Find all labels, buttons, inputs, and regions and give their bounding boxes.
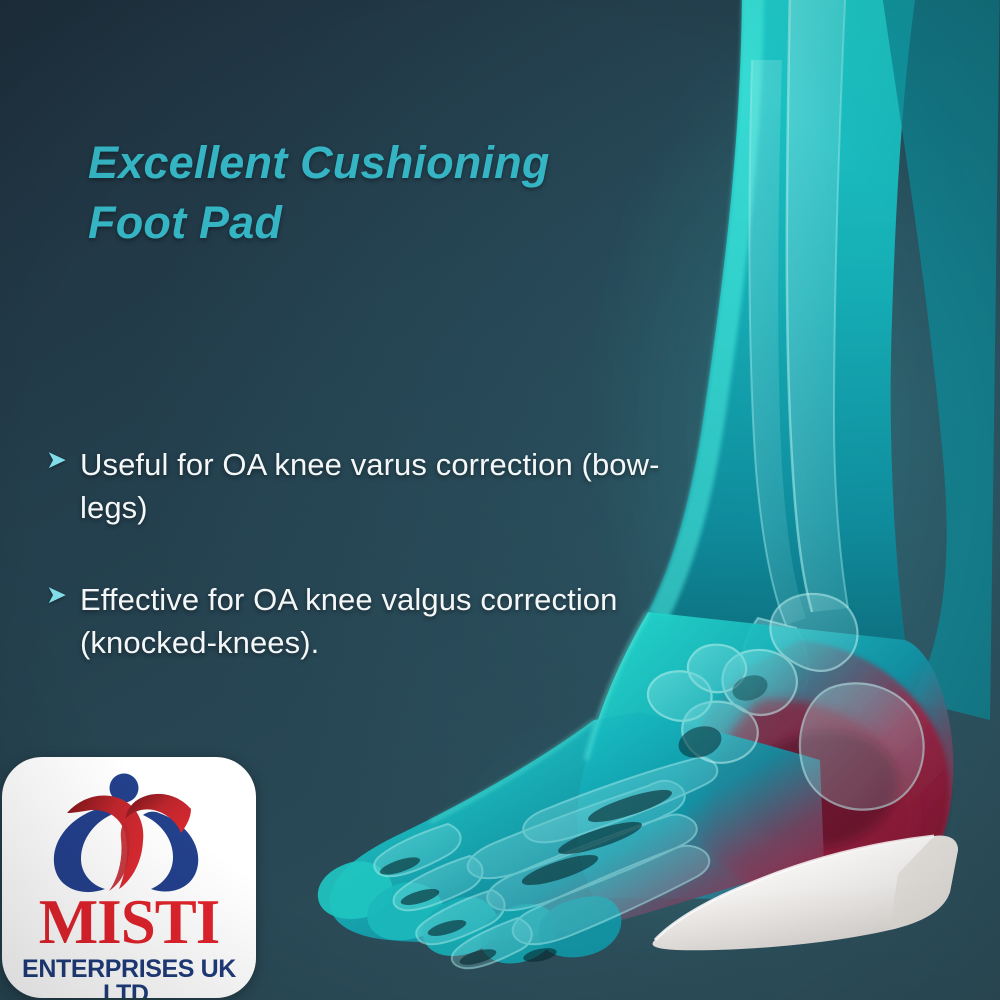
promo-graphic: Excellent Cushioning Foot Pad ➤ Useful f… [0,0,1000,1000]
logo-blue-crescent-left [54,808,115,892]
logo-wordmark: MISTI [2,891,256,954]
logo-blue-crescent-right [143,812,198,892]
list-item-label: Effective for OA knee valgus correction … [80,578,686,665]
list-item: ➤ Useful for OA knee varus correction (b… [46,443,686,530]
list-item: ➤ Effective for OA knee valgus correctio… [46,578,686,665]
brand-logo-card: MISTI ENTERPRISES UK LTD. [2,757,256,998]
logo-subtext: ENTERPRISES UK LTD. [2,957,256,998]
misti-logo-mark [41,769,217,897]
arrow-bullet-icon: ➤ [46,578,80,608]
arrow-bullet-icon: ➤ [46,443,80,473]
feature-list: ➤ Useful for OA knee varus correction (b… [46,443,686,713]
page-title: Excellent Cushioning Foot Pad [88,133,728,254]
headline-line-1: Excellent Cushioning [88,137,550,188]
list-item-label: Useful for OA knee varus correction (bow… [80,443,686,530]
headline-line-2: Foot Pad [88,193,728,253]
